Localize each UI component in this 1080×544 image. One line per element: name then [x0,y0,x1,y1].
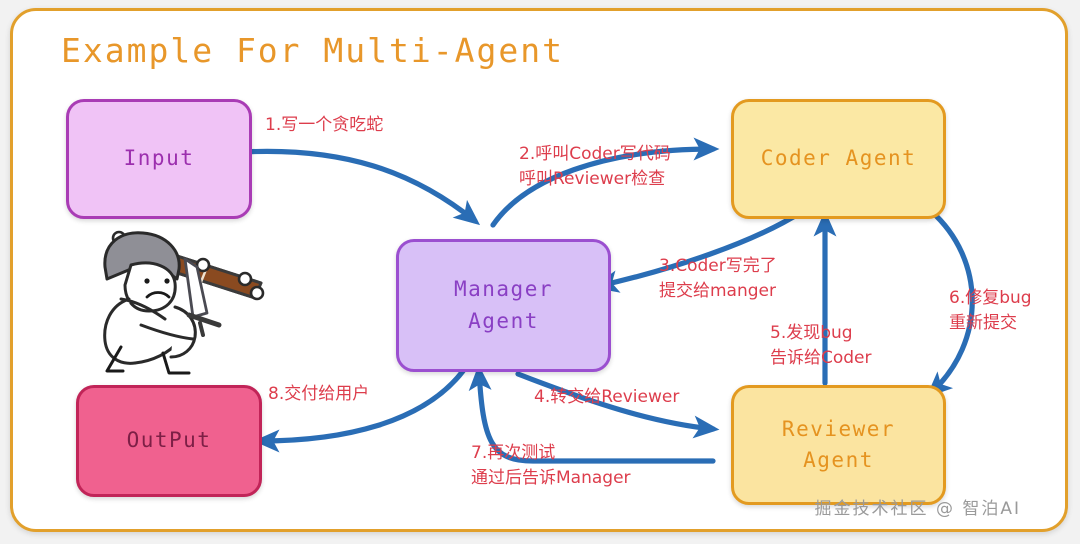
node-coder-label: Coder Agent [761,143,917,175]
node-output-label: OutPut [127,425,212,457]
node-output[interactable]: OutPut [76,385,262,497]
node-reviewer-label-line1: Reviewer [782,414,895,446]
diagram-canvas: Example For Multi-Agent [10,8,1068,532]
edge-label-2-line2: 呼叫Reviewer检查 [519,167,671,192]
edge-label-8-line1: 8.交付给用户 [268,382,369,407]
page-title: Example For Multi-Agent [61,31,564,70]
watermark: 掘金技术社区 @ 智泊AI [815,494,1021,519]
edge-label-7: 7.再次测试 通过后告诉Manager [471,441,631,490]
edge-label-8: 8.交付给用户 [268,382,369,407]
edge-label-6-line1: 6.修复bug [949,286,1032,311]
node-reviewer-label-line2: Agent [803,445,874,477]
edge-label-3-line1: 3.Coder写完了 [659,254,777,279]
edge-label-5-line1: 5.发现bug [770,321,872,346]
edge-label-3: 3.Coder写完了 提交给manger [659,254,777,303]
node-coder-agent[interactable]: Coder Agent [731,99,946,219]
edge-label-7-line2: 通过后告诉Manager [471,466,631,491]
edge-label-4: 4.转交给Reviewer [534,385,679,410]
diagram-screenshot: Example For Multi-Agent [0,0,1080,544]
edge-label-3-line2: 提交给manger [659,279,777,304]
node-reviewer-agent[interactable]: Reviewer Agent [731,385,946,505]
edge-label-7-line1: 7.再次测试 [471,441,631,466]
node-manager-label-line2: Agent [468,306,539,338]
node-input[interactable]: Input [66,99,252,219]
mascot-illustration-icon [85,207,281,385]
node-input-label: Input [124,143,195,175]
edge-label-6: 6.修复bug 重新提交 [949,286,1032,335]
edge-label-5-line2: 告诉给Coder [770,346,872,371]
edge-label-5: 5.发现bug 告诉给Coder [770,321,872,370]
edge-label-4-line1: 4.转交给Reviewer [534,385,679,410]
edge-label-2: 2.呼叫Coder写代码 呼叫Reviewer检查 [519,142,671,191]
edge-label-2-line1: 2.呼叫Coder写代码 [519,142,671,167]
node-manager-label-line1: Manager [454,274,553,306]
edge-label-1-line1: 1.写一个贪吃蛇 [265,113,383,138]
node-manager-agent[interactable]: Manager Agent [396,239,611,372]
edge-label-6-line2: 重新提交 [949,311,1032,336]
edge-label-1: 1.写一个贪吃蛇 [265,113,383,138]
